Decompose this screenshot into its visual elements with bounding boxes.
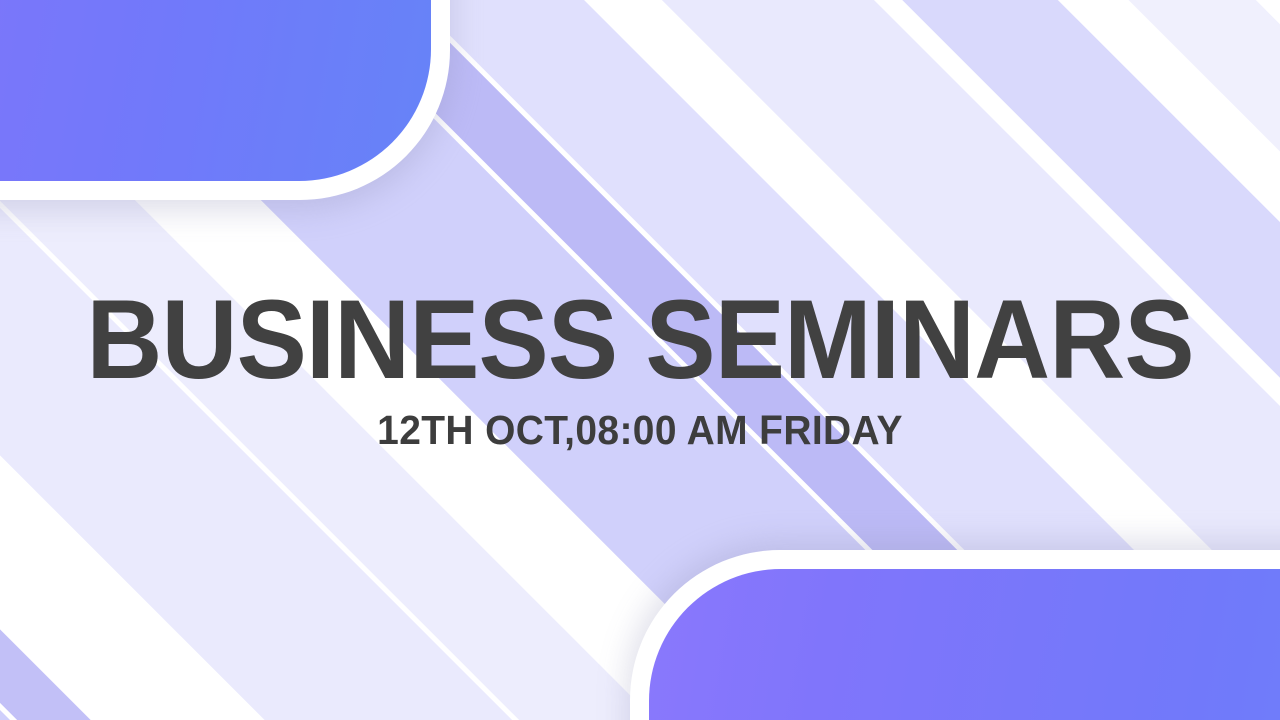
bottom-right-shape-gradient-fill (649, 569, 1280, 720)
poster-text-block: BUSINESS SEMINARS 12TH OCT,08:00 AM FRID… (0, 284, 1280, 451)
bottom-right-gradient-shape (630, 550, 1280, 720)
poster-title: BUSINESS SEMINARS (38, 284, 1241, 396)
stripe-0 (0, 664, 336, 720)
stripe-1 (0, 610, 390, 720)
top-left-shape-gradient-fill (0, 0, 431, 181)
poster-subtitle-datetime: 12TH OCT,08:00 AM FRIDAY (32, 410, 1248, 451)
top-left-gradient-shape (0, 0, 450, 200)
event-poster: BUSINESS SEMINARS 12TH OCT,08:00 AM FRID… (0, 0, 1280, 720)
stripe-2 (0, 516, 484, 720)
